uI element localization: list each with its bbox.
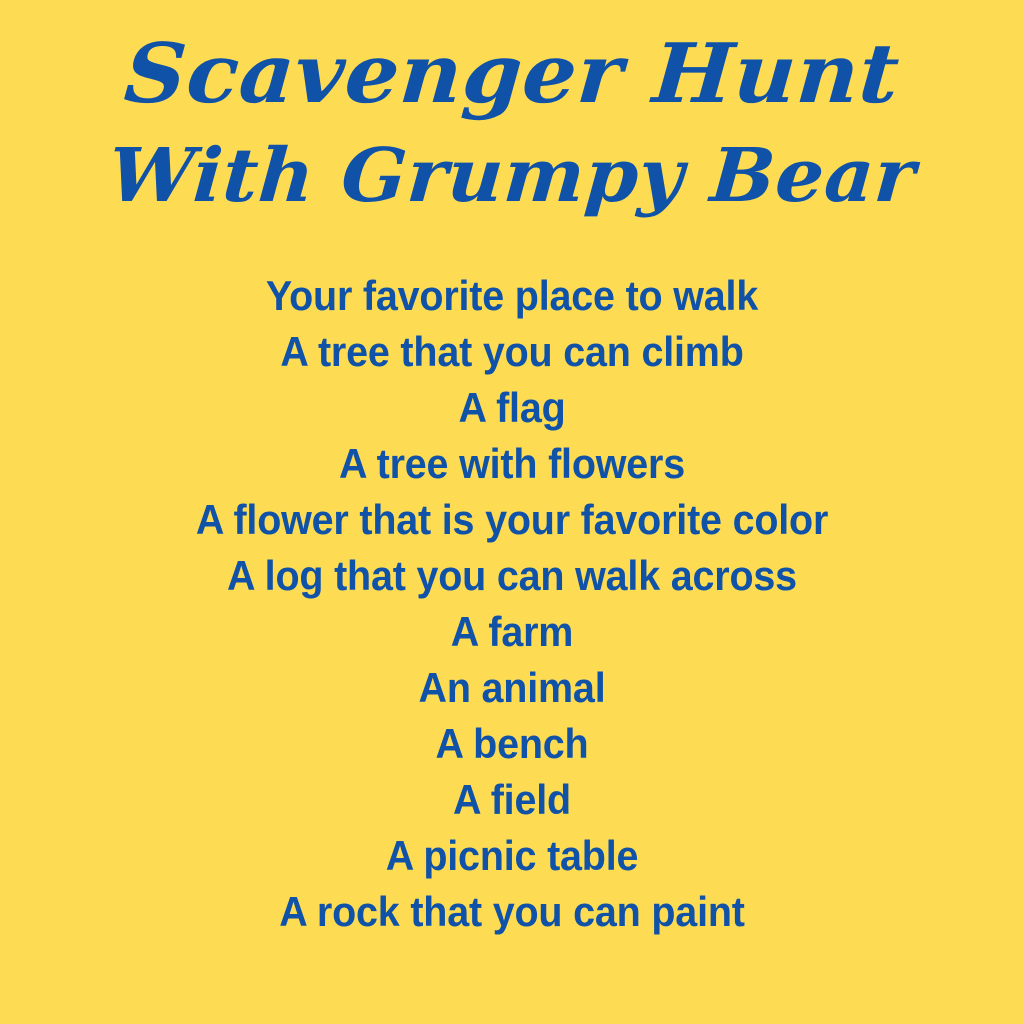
list-item: A flower that is your favorite color <box>31 492 994 548</box>
list-item: A rock that you can paint <box>31 884 994 940</box>
list-item: A bench <box>31 716 994 772</box>
list-item: A flag <box>31 380 994 436</box>
list-item: Your favorite place to walk <box>31 268 994 324</box>
list-item: A tree with flowers <box>31 436 994 492</box>
list-item: A tree that you can climb <box>31 324 994 380</box>
list-item: A field <box>31 772 994 828</box>
title-line-primary: Scavenger Hunt <box>0 22 1024 126</box>
list-item: A picnic table <box>31 828 994 884</box>
scavenger-hunt-list: Your favorite place to walk A tree that … <box>0 268 1024 940</box>
poster-title: Scavenger Hunt With Grumpy Bear <box>0 22 1024 226</box>
list-item: A farm <box>31 604 994 660</box>
list-item: A log that you can walk across <box>31 548 994 604</box>
list-item: An animal <box>31 660 994 716</box>
scavenger-hunt-poster: Scavenger Hunt With Grumpy Bear Your fav… <box>0 0 1024 1024</box>
title-line-secondary: With Grumpy Bear <box>0 126 1024 226</box>
